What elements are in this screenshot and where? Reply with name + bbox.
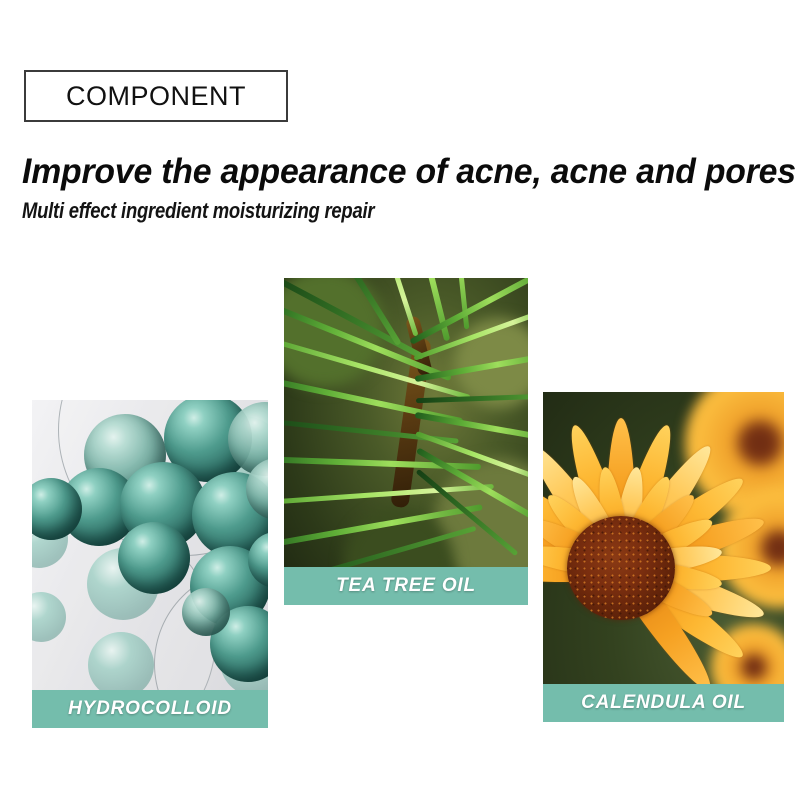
hydrocolloid-caption-bar: HYDROCOLLOID — [32, 690, 268, 728]
tea-tree-image: TEA TREE OIL — [284, 278, 528, 605]
calendula-flower-center — [567, 516, 675, 620]
hydrocolloid-image: HYDROCOLLOID — [32, 400, 268, 728]
hydrocolloid-sphere — [182, 588, 230, 636]
calendula-image: CALENDULA OIL — [543, 392, 784, 722]
ingredient-card-calendula-oil: CALENDULA OIL — [543, 392, 784, 722]
page-subtitle: Multi effect ingredient moisturizing rep… — [22, 198, 374, 224]
ingredient-card-tea-tree-oil: TEA TREE OIL — [284, 278, 528, 605]
hydrocolloid-caption-label: HYDROCOLLOID — [68, 698, 232, 720]
calendula-caption-bar: CALENDULA OIL — [543, 684, 784, 722]
component-badge: COMPONENT — [24, 70, 288, 122]
page-title: Improve the appearance of acne, acne and… — [22, 152, 796, 192]
tea-tree-caption-bar: TEA TREE OIL — [284, 567, 528, 605]
ingredient-card-hydrocolloid: HYDROCOLLOID — [32, 400, 268, 728]
calendula-caption-label: CALENDULA OIL — [581, 692, 746, 714]
component-badge-label: COMPONENT — [66, 81, 246, 112]
tea-tree-caption-label: TEA TREE OIL — [336, 575, 476, 597]
hydrocolloid-sphere — [88, 632, 154, 698]
hydrocolloid-sphere — [118, 522, 190, 594]
calendula-center-texture — [567, 516, 675, 620]
